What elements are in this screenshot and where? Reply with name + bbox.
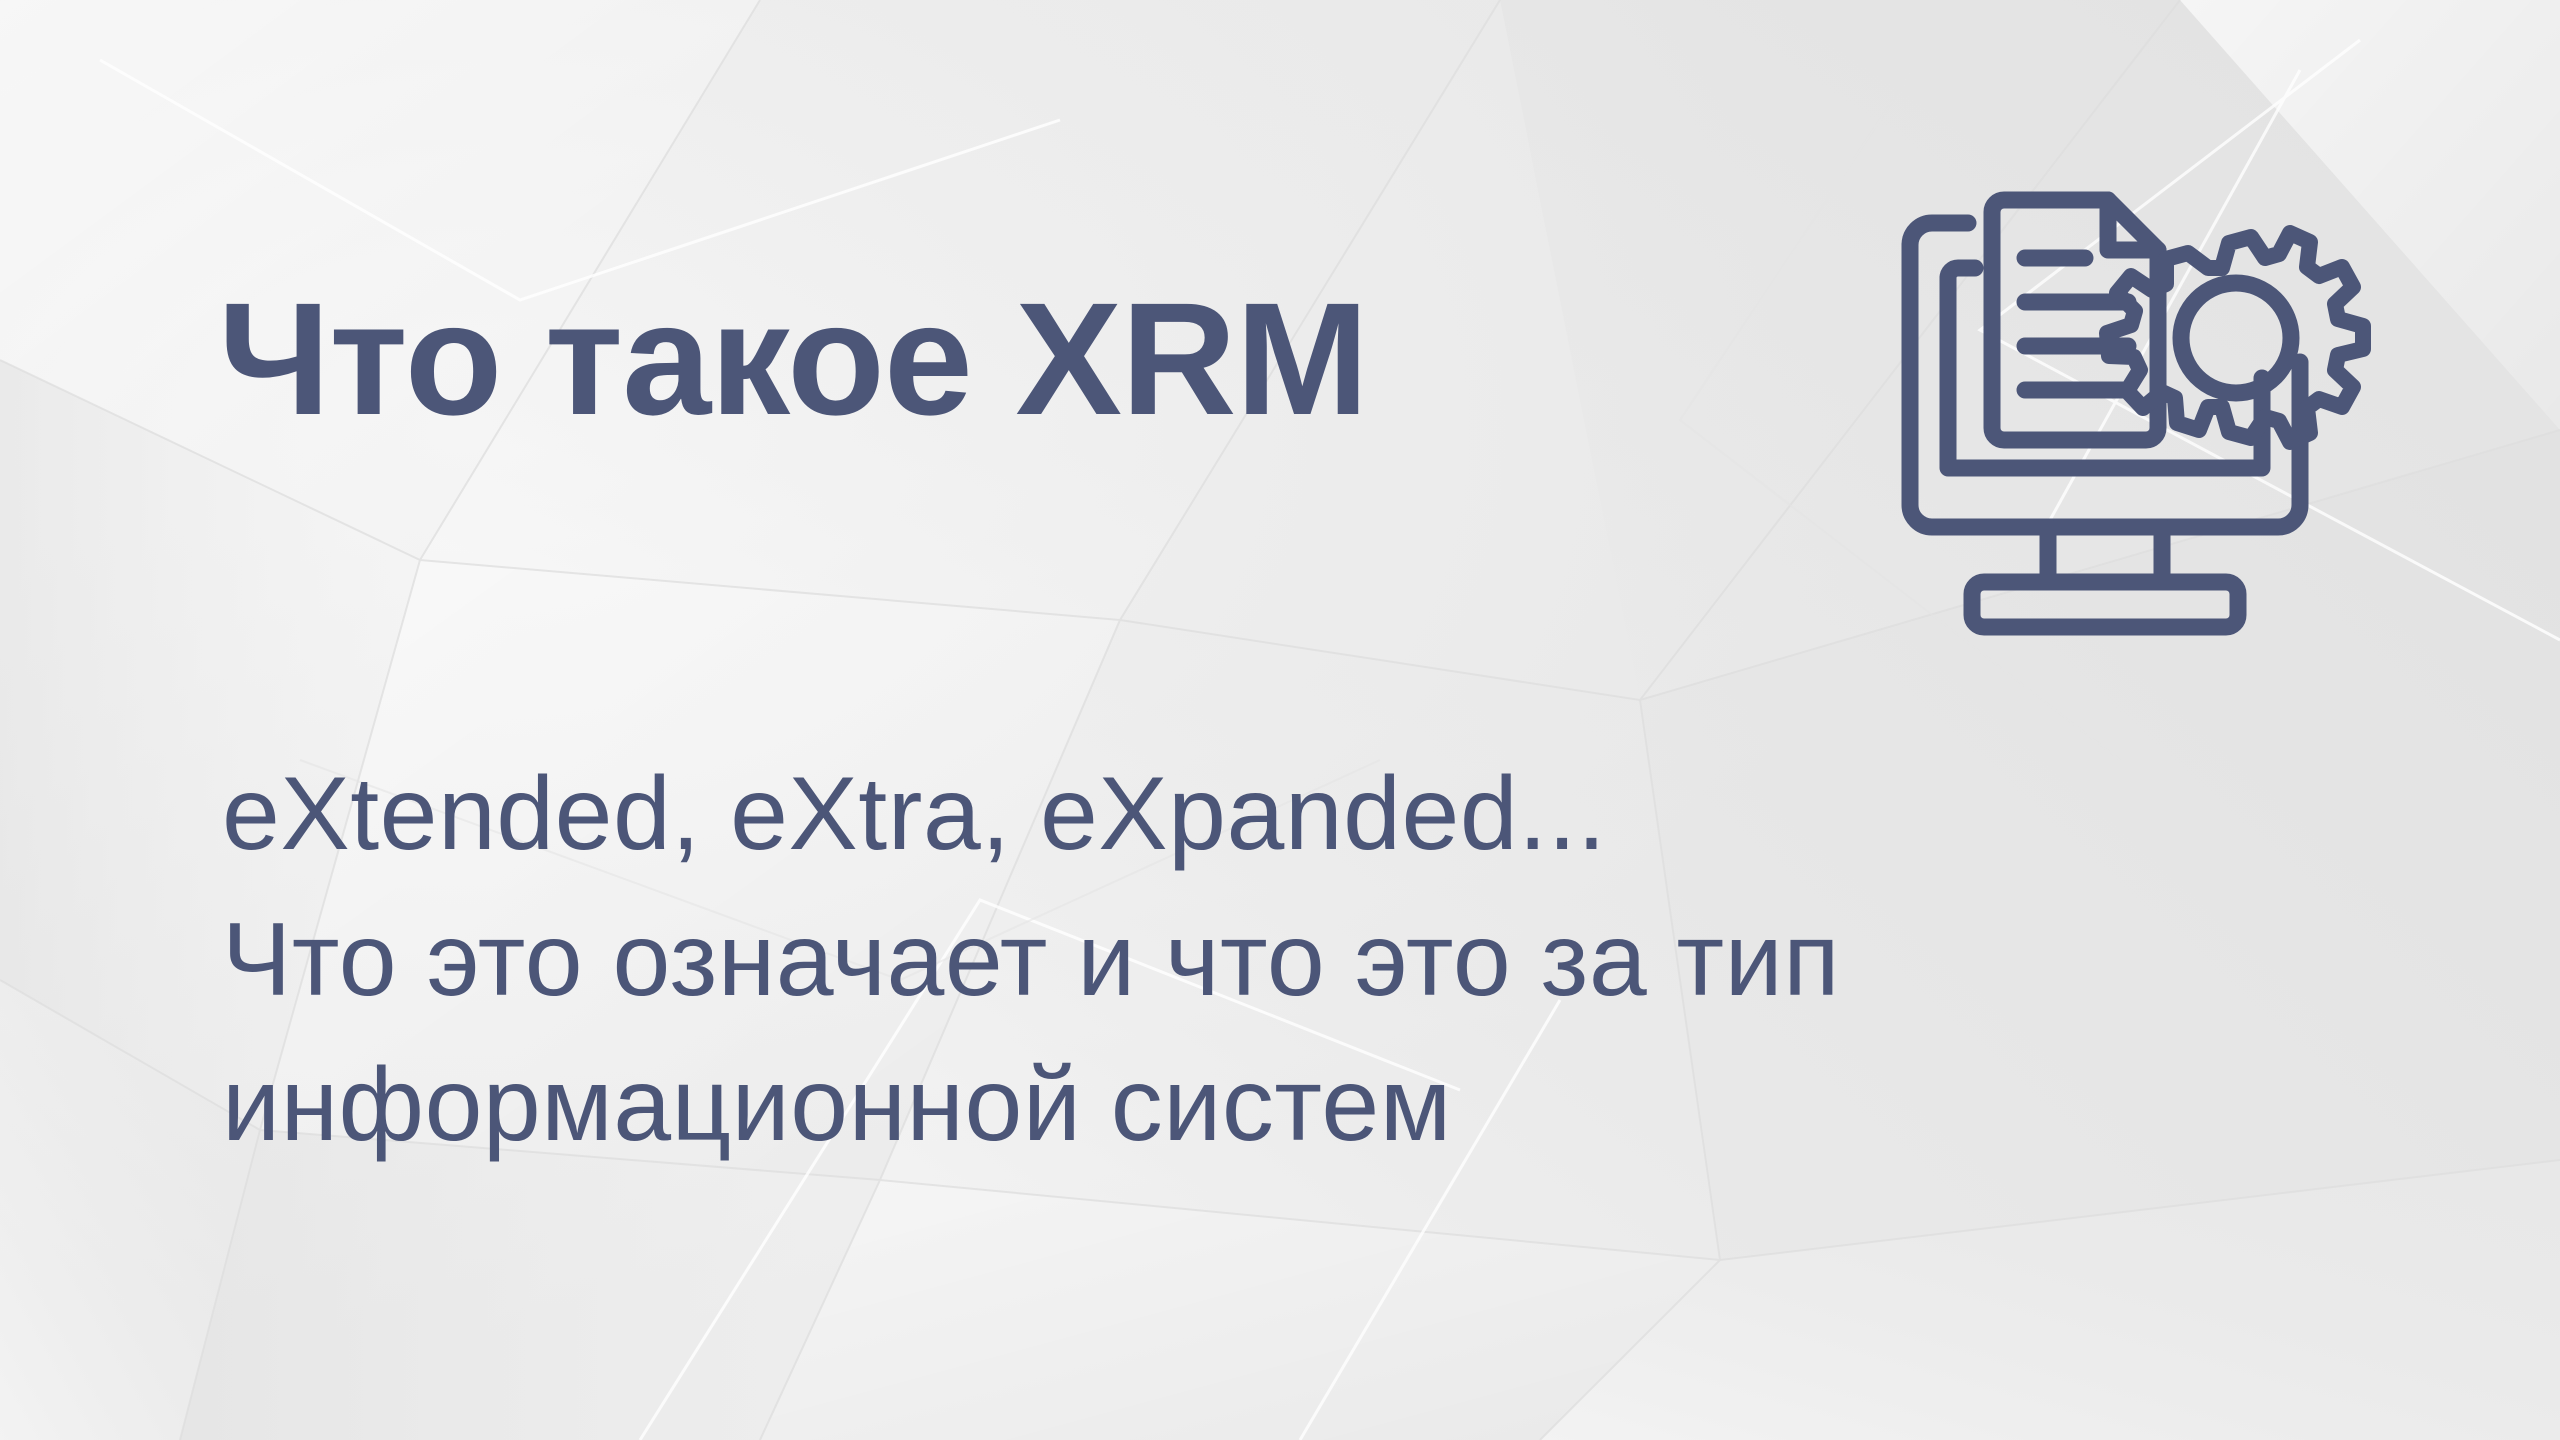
slide-subtitle: eXtended, eXtra, eXpanded... Что это озн… (222, 742, 1840, 1179)
subtitle-line-1: eXtended, eXtra, eXpanded... (222, 742, 1840, 888)
subtitle-line-2: Что это означает и что это за тип (222, 888, 1840, 1034)
slide: Что такое XRM eXtended, eXtra, eXpanded.… (0, 0, 2560, 1440)
monitor-document-gear-icon (1880, 150, 2380, 660)
slide-title: Что такое XRM (218, 275, 1368, 443)
subtitle-line-3: информационной систем (222, 1033, 1840, 1179)
